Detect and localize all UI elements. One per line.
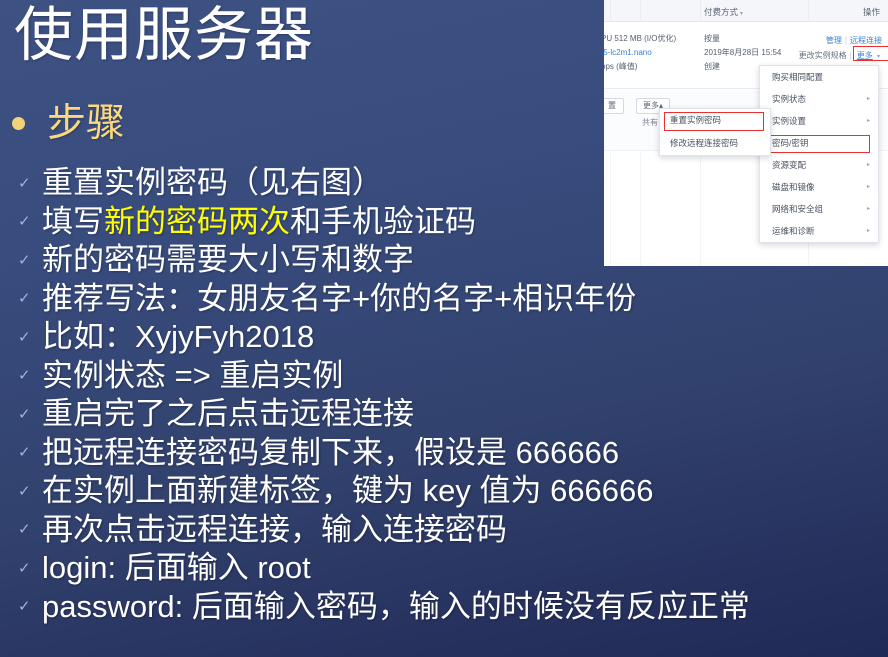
list-item-text: 填写新的密码两次和手机验证码	[42, 206, 476, 238]
check-icon: ✓	[12, 561, 42, 576]
table-header-row: 付费方式▾ 操作	[604, 0, 888, 22]
more-dropdown-button[interactable]: 更多 ▾	[855, 48, 882, 65]
menu-item-buy-same-config[interactable]: 购买相同配置	[760, 66, 878, 88]
chevron-right-icon: ▸	[867, 176, 870, 198]
chevron-down-icon: ▾	[740, 11, 743, 17]
list-item: ✓ 在实例上面新建标签，键为 key 值为 666666	[12, 472, 752, 511]
list-item: ✓ 比如：XyjyFyh2018	[12, 318, 752, 357]
chevron-right-icon: ▸	[867, 110, 870, 132]
menu-item-password-key[interactable]: 密码/密钥	[760, 132, 878, 154]
list-item-text: login: 后面输入 root	[42, 552, 311, 584]
console-screenshot-image: 付费方式▾ 操作 PU 512 MB (I/O优化) t5-lc2m1.nano…	[604, 0, 888, 266]
menu-item-instance-settings[interactable]: 实例设置 ▸	[760, 110, 878, 132]
list-item: ✓ 推荐写法：女朋友名字+你的名字+相识年份	[12, 280, 752, 319]
table-header-payment: 付费方式▾	[704, 6, 743, 18]
more-dropdown-menu: 购买相同配置 实例状态 ▸ 实例设置 ▸ 密码/密钥 资源变配 ▸ 磁盘和镜像 …	[759, 65, 879, 243]
change-spec-link[interactable]: 更改实例规格	[799, 51, 847, 60]
chevron-right-icon: ▸	[867, 198, 870, 220]
chevron-down-icon: ▾	[877, 54, 880, 60]
row-action-cell: 管理|远程连接 更改实例规格|更多 ▾	[799, 33, 882, 65]
list-item-text: 在实例上面新建标签，键为 key 值为 666666	[42, 475, 654, 507]
chevron-right-icon: ▸	[867, 154, 870, 176]
check-icon: ✓	[12, 599, 42, 614]
check-icon: ✓	[12, 368, 42, 383]
list-item-text: 再次点击远程连接，输入连接密码	[42, 514, 507, 546]
menu-item-network-security[interactable]: 网络和安全组 ▸	[760, 198, 878, 220]
list-item: ✓ 重启完了之后点击远程连接	[12, 395, 752, 434]
list-item-text: 比如：XyjyFyh2018	[42, 321, 314, 353]
manage-link[interactable]: 管理	[826, 36, 842, 45]
remote-connect-link[interactable]: 远程连接	[850, 36, 882, 45]
check-icon: ✓	[12, 407, 42, 422]
check-icon: ✓	[12, 330, 42, 345]
instance-bandwidth: ops (峰值)	[604, 60, 676, 74]
instance-type-link[interactable]: t5-lc2m1.nano	[604, 46, 676, 60]
created-time: 2019年8月28日 15:54	[704, 46, 781, 60]
password-key-submenu: 重置实例密码 修改远程连接密码	[659, 108, 771, 156]
list-item-text: 重置实例密码（见右图）	[42, 167, 383, 199]
submenu-item-reset-instance-password[interactable]: 重置实例密码	[660, 109, 770, 132]
check-icon: ✓	[12, 253, 42, 268]
section-heading: 步骤	[12, 104, 125, 143]
submenu-item-change-remote-password[interactable]: 修改远程连接密码	[660, 132, 770, 155]
check-icon: ✓	[12, 176, 42, 191]
check-icon: ✓	[12, 484, 42, 499]
chevron-right-icon: ▸	[867, 220, 870, 242]
list-item: ✓ login: 后面输入 root	[12, 549, 752, 588]
list-item-text: 实例状态 => 重启实例	[42, 360, 343, 392]
list-item-text: 新的密码需要大小写和数字	[42, 244, 414, 276]
check-icon: ✓	[12, 445, 42, 460]
chevron-right-icon: ▸	[867, 88, 870, 110]
list-item: ✓ 把远程连接密码复制下来，假设是 666666	[12, 434, 752, 473]
menu-item-resource-change[interactable]: 资源变配 ▸	[760, 154, 878, 176]
list-item: ✓ 实例状态 => 重启实例	[12, 357, 752, 396]
menu-item-ops-diagnostics[interactable]: 运维和诊断 ▸	[760, 220, 878, 242]
instance-spec-cell: PU 512 MB (I/O优化) t5-lc2m1.nano ops (峰值)	[604, 32, 676, 74]
table-header-action: 操作	[863, 6, 880, 18]
list-item: ✓ 再次点击远程连接，输入连接密码	[12, 511, 752, 550]
list-item-text: 重启完了之后点击远程连接	[42, 398, 414, 430]
check-icon: ✓	[12, 291, 42, 306]
instance-cpu-mem: PU 512 MB (I/O优化)	[604, 32, 676, 46]
check-icon: ✓	[12, 214, 42, 229]
footer-note: 共有	[642, 117, 658, 128]
list-item-text: 推荐写法：女朋友名字+你的名字+相识年份	[42, 283, 636, 315]
menu-item-disk-image[interactable]: 磁盘和镜像 ▸	[760, 176, 878, 198]
partial-button[interactable]: 置	[604, 98, 624, 114]
page-title: 使用服务器	[14, 4, 314, 68]
list-item-text: 把远程连接密码复制下来，假设是 666666	[42, 437, 619, 469]
menu-item-instance-status[interactable]: 实例状态 ▸	[760, 88, 878, 110]
list-item-text: password: 后面输入密码，输入的时候没有反应正常	[42, 591, 750, 623]
payment-type: 按量	[704, 32, 781, 46]
section-heading-label: 步骤	[47, 104, 125, 143]
check-icon: ✓	[12, 522, 42, 537]
bullet-dot-icon	[12, 117, 25, 130]
list-item: ✓ password: 后面输入密码，输入的时候没有反应正常	[12, 588, 752, 627]
